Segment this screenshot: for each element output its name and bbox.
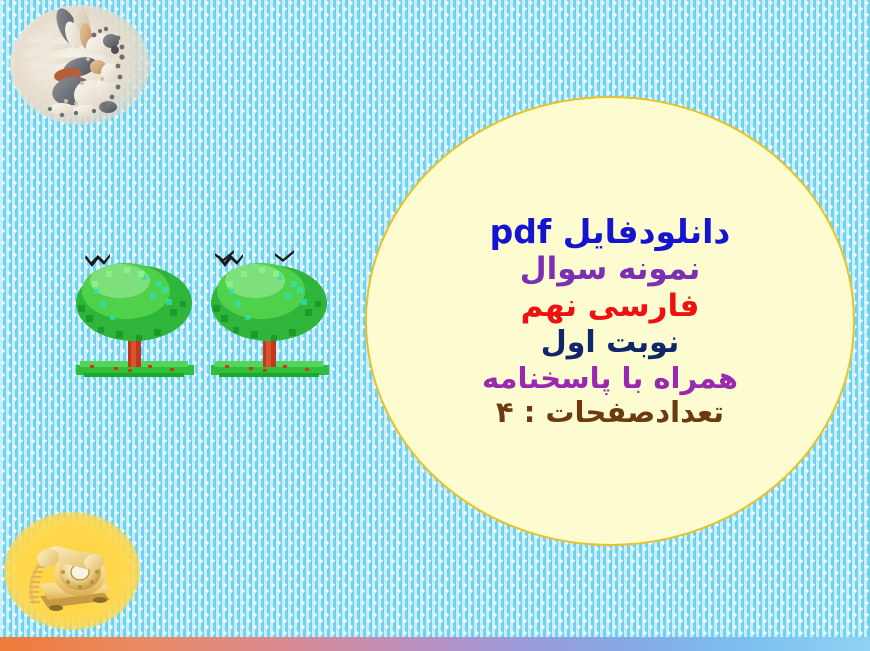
page-count-line: تعدادصفحات : ۴ [496, 396, 724, 428]
bird-silhouette-icon [85, 253, 111, 269]
bird-silhouette-4 [275, 250, 295, 263]
gradient-footer-bar [0, 637, 870, 651]
pebble-rabbit-icon [10, 5, 150, 125]
slide-canvas: دانلودفایل pdf نمونه سوال فارسی نهم نوبت… [0, 0, 870, 651]
download-title-line: دانلودفایل pdf [490, 214, 731, 251]
answer-key-line: همراه با پاسخنامه [482, 362, 738, 394]
bird-silhouette-icon [218, 253, 244, 269]
bird-silhouette-3 [218, 253, 244, 269]
bird-silhouette-1 [85, 253, 111, 269]
subject-grade-line: فارسی نهم [521, 289, 700, 324]
sample-questions-line: نمونه سوال [520, 252, 701, 287]
rotary-telephone-icon [4, 512, 140, 630]
term-line: نوبت اول [541, 326, 680, 360]
pebble-rabbit-badge [10, 5, 150, 125]
rotary-telephone-badge [4, 512, 140, 630]
info-circle-panel: دانلودفایل pdf نمونه سوال فارسی نهم نوبت… [365, 96, 855, 546]
bird-silhouette-icon [275, 250, 295, 263]
